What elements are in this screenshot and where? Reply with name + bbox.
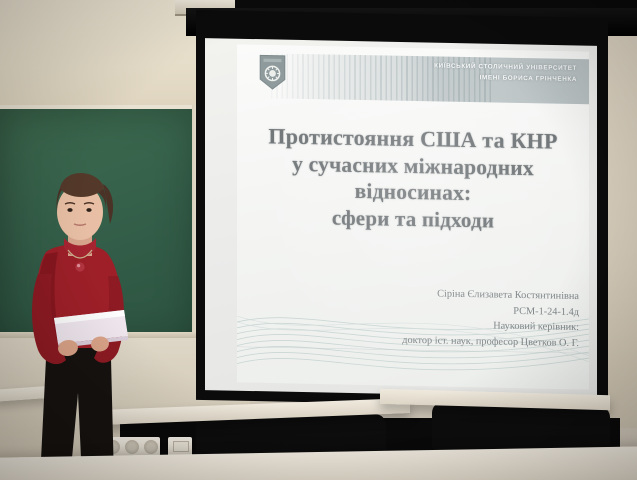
university-name: КИЇВСЬКИЙ СТОЛИЧНИЙ УНІВЕРСИТЕТ ІМЕНІ БО… bbox=[434, 60, 577, 85]
slide-credits: Сіріна Єлизавета Костянтинівна РСМ-1-24-… bbox=[279, 284, 579, 352]
classroom-presentation-scene: КИЇВСЬКИЙ СТОЛИЧНИЙ УНІВЕРСИТЕТ ІМЕНІ БО… bbox=[0, 0, 637, 480]
presenter-figure bbox=[18, 168, 144, 480]
slide-title: Протистояння США та КНР у сучасних міжна… bbox=[237, 123, 589, 235]
socket-hole bbox=[144, 440, 158, 454]
presentation-slide: КИЇВСЬКИЙ СТОЛИЧНИЙ УНІВЕРСИТЕТ ІМЕНІ БО… bbox=[237, 44, 589, 389]
chair-right bbox=[432, 402, 610, 454]
university-crest-icon bbox=[259, 54, 286, 90]
slide-title-line4: сфери та підходи bbox=[237, 202, 589, 235]
